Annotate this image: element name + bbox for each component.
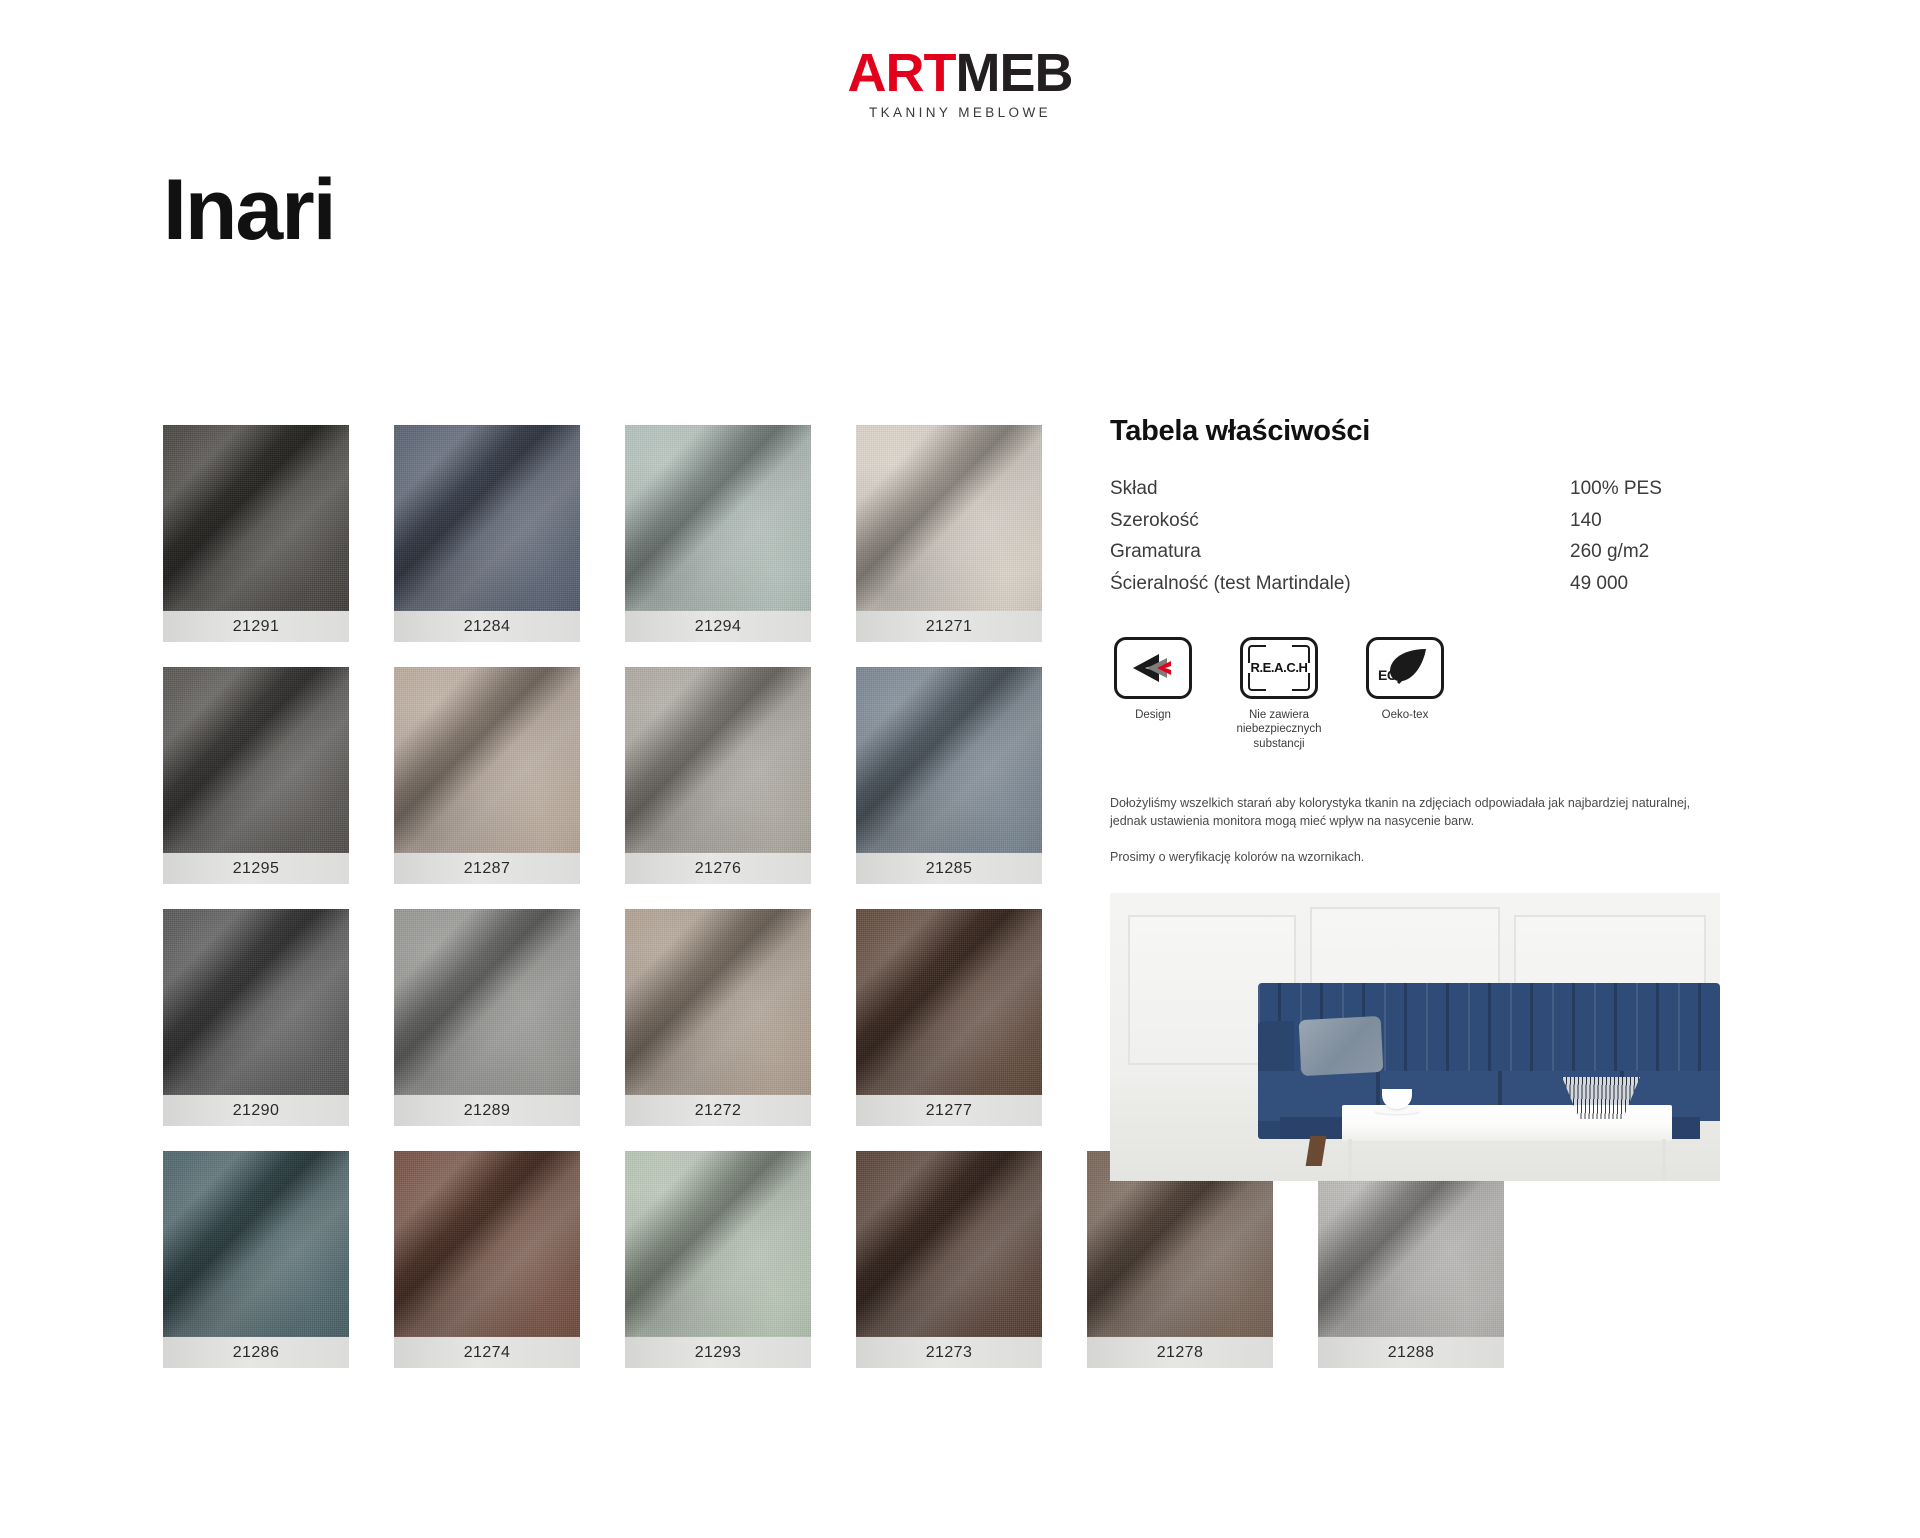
fabric-texture [625,425,811,611]
properties-title: Tabela właściwości [1110,415,1730,448]
swatch-image[interactable] [394,1151,580,1337]
swatch-code-label: 21284 [394,611,580,642]
swatch-21277[interactable]: 21277 [856,909,1042,1126]
badge-design-caption: Design [1110,708,1196,723]
swatch-code-label: 21288 [1318,1337,1504,1368]
property-value: 140 [1570,508,1730,540]
swatch-code-label: 21291 [163,611,349,642]
swatch-row: 212862127421293212732127821288 [163,1151,1283,1368]
swatch-21286[interactable]: 21286 [163,1151,349,1368]
swatch-code-label: 21286 [163,1337,349,1368]
fabric-texture [856,1151,1042,1337]
swatch-code-label: 21285 [856,853,1042,884]
property-value: 49 000 [1570,571,1730,603]
swatch-21285[interactable]: 21285 [856,667,1042,884]
property-row: Ścieralność (test Martindale)49 000 [1110,571,1730,603]
swatch-image[interactable] [394,909,580,1095]
brand-logo: ARTMEB TKANINY MEBLOWE [0,46,1920,120]
fabric-texture [394,667,580,853]
logo-art-text: ART [848,43,956,103]
swatch-image[interactable] [856,909,1042,1095]
swatch-21293[interactable]: 21293 [625,1151,811,1368]
properties-panel: Tabela właściwości Skład100% PESSzerokoś… [1110,415,1730,1181]
swatch-code-label: 21272 [625,1095,811,1126]
property-label: Szerokość [1110,508,1570,540]
swatch-image[interactable] [625,1151,811,1337]
color-disclaimer: Dołożyliśmy wszelkich starań aby kolorys… [1110,794,1720,867]
fabric-texture [163,1151,349,1337]
eco-label: ECO [1378,667,1407,683]
fabric-texture [394,1151,580,1337]
swatch-image[interactable] [625,425,811,611]
interior-photo [1110,893,1720,1181]
swatch-21272[interactable]: 21272 [625,909,811,1126]
page-title: Inari [163,165,335,255]
property-label: Gramatura [1110,539,1570,571]
coffee-table-legs [1348,1139,1666,1181]
swatch-21291[interactable]: 21291 [163,425,349,642]
logo-meb-text: MEB [955,43,1072,103]
design-icon [1114,637,1192,699]
certification-badges: Design R.E.A.C.H Nie zawiera niebezpiecz… [1110,637,1730,752]
cushion-pillow [1299,1016,1384,1076]
swatch-21294[interactable]: 21294 [625,425,811,642]
fabric-collection-sheet: ARTMEB TKANINY MEBLOWE Inari 21291212842… [0,0,1920,1538]
fabric-texture [856,909,1042,1095]
swatch-image[interactable] [856,667,1042,853]
swatch-21284[interactable]: 21284 [394,425,580,642]
swatch-21287[interactable]: 21287 [394,667,580,884]
properties-table: Skład100% PESSzerokość140Gramatura260 g/… [1110,476,1730,603]
property-value: 260 g/m2 [1570,539,1730,571]
swatch-image[interactable] [163,909,349,1095]
swatch-code-label: 21294 [625,611,811,642]
fabric-texture [625,1151,811,1337]
swatch-image[interactable] [163,1151,349,1337]
swatch-image[interactable] [625,909,811,1095]
swatch-image[interactable] [394,667,580,853]
property-label: Ścieralność (test Martindale) [1110,571,1570,603]
fabric-texture [394,909,580,1095]
badge-reach: R.E.A.C.H Nie zawiera niebezpiecznych su… [1236,637,1322,752]
fabric-texture [625,667,811,853]
fabric-texture [163,909,349,1095]
swatch-code-label: 21287 [394,853,580,884]
fabric-texture [394,425,580,611]
fabric-texture [856,667,1042,853]
swatch-code-label: 21277 [856,1095,1042,1126]
logo-wordmark: ARTMEB [848,46,1073,100]
badge-oeko-tex-caption: Oeko-tex [1362,708,1448,723]
fabric-texture [856,425,1042,611]
swatch-code-label: 21271 [856,611,1042,642]
swatch-21289[interactable]: 21289 [394,909,580,1126]
badge-design: Design [1110,637,1196,752]
reach-icon: R.E.A.C.H [1240,637,1318,699]
property-row: Skład100% PES [1110,476,1730,508]
disclaimer-paragraph-2: Prosimy o weryfikację kolorów na wzornik… [1110,848,1720,867]
property-value: 100% PES [1570,476,1730,508]
swatch-21290[interactable]: 21290 [163,909,349,1126]
swatch-21276[interactable]: 21276 [625,667,811,884]
property-label: Skład [1110,476,1570,508]
fabric-texture [625,909,811,1095]
property-row: Gramatura260 g/m2 [1110,539,1730,571]
swatch-21288[interactable]: 21288 [1318,1151,1504,1368]
design-chevron-icon [1129,650,1177,686]
badge-oeko-tex: ECO Oeko-tex [1362,637,1448,752]
swatch-21273[interactable]: 21273 [856,1151,1042,1368]
swatch-image[interactable] [625,667,811,853]
swatch-21271[interactable]: 21271 [856,425,1042,642]
fabric-texture [163,425,349,611]
swatch-code-label: 21295 [163,853,349,884]
swatch-code-label: 21273 [856,1337,1042,1368]
property-row: Szerokość140 [1110,508,1730,540]
swatch-code-label: 21289 [394,1095,580,1126]
swatch-21295[interactable]: 21295 [163,667,349,884]
swatch-21278[interactable]: 21278 [1087,1151,1273,1368]
swatch-image[interactable] [856,1151,1042,1337]
swatch-image[interactable] [163,425,349,611]
swatch-code-label: 21293 [625,1337,811,1368]
swatch-21274[interactable]: 21274 [394,1151,580,1368]
eco-leaf-icon: ECO [1366,637,1444,699]
logo-tagline: TKANINY MEBLOWE [0,105,1920,120]
disclaimer-paragraph-1: Dołożyliśmy wszelkich starań aby kolorys… [1110,794,1720,832]
swatch-image[interactable] [163,667,349,853]
badge-reach-caption: Nie zawiera niebezpiecznych substancji [1236,708,1322,752]
swatch-image[interactable] [394,425,580,611]
fabric-texture [163,667,349,853]
swatch-code-label: 21290 [163,1095,349,1126]
swatch-code-label: 21274 [394,1337,580,1368]
swatch-image[interactable] [856,425,1042,611]
swatch-code-label: 21278 [1087,1337,1273,1368]
swatch-code-label: 21276 [625,853,811,884]
